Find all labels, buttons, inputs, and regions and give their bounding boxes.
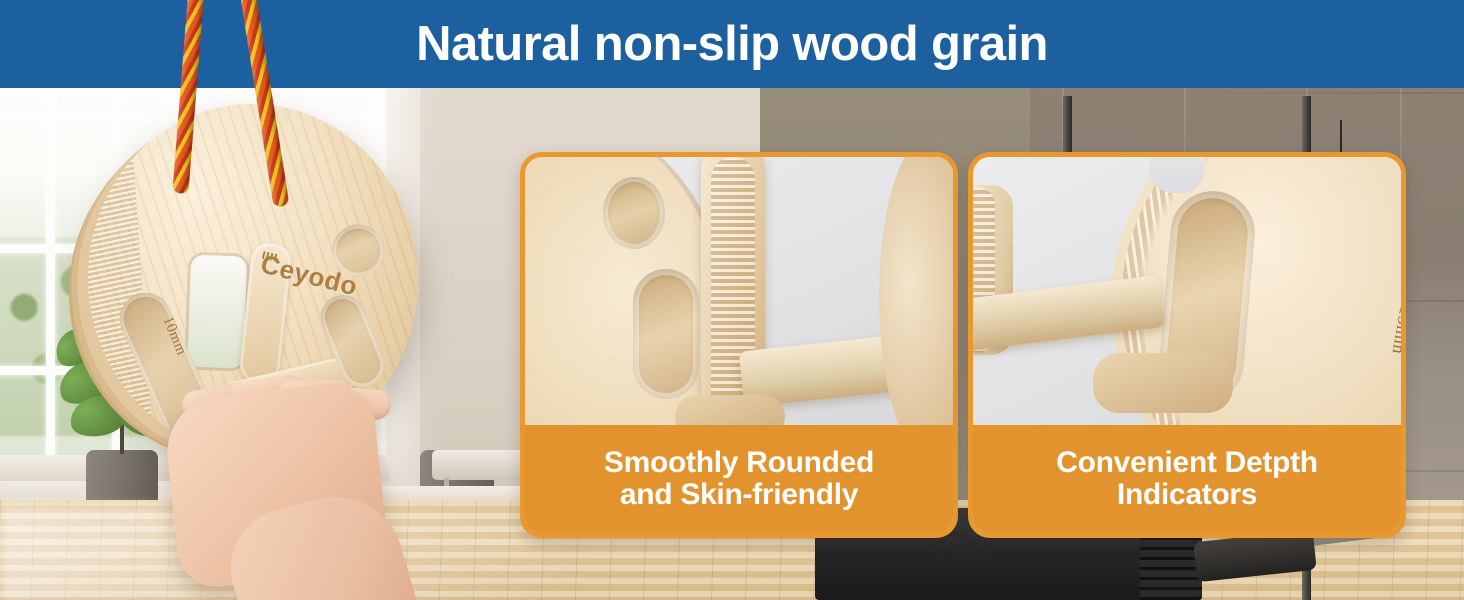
closeup-lower-edge (675, 395, 785, 425)
closeup-round-pocket (603, 177, 665, 249)
feature-card-2-photo: 15mm (973, 157, 1401, 425)
feature-card-depth-indicators[interactable]: 15mm Convenient Detpth Indicators (968, 152, 1406, 538)
header-banner: Natural non-slip wood grain (0, 0, 1464, 88)
closeup-oval-slot (633, 269, 699, 399)
hand-gripping-board (165, 380, 465, 600)
feature-card-smoothly-rounded[interactable]: Smoothly Rounded and Skin-friendly (520, 152, 958, 538)
feature-card-2-caption-line2: Indicators (1117, 478, 1257, 511)
closeup-right-rim (879, 157, 953, 425)
feature-card-1-caption-line2: and Skin-friendly (620, 478, 858, 511)
feature-card-2-caption-line1: Convenient Detpth (1056, 446, 1318, 479)
promo-image-root: MARCYSOM 10mm Ceyodo (0, 0, 1464, 600)
closeup-lower-web (1093, 353, 1233, 413)
feature-card-1-photo (525, 157, 953, 425)
feature-card-2-caption: Convenient Detpth Indicators (973, 425, 1401, 533)
feature-card-1-caption: Smoothly Rounded and Skin-friendly (525, 425, 953, 533)
page-title: Natural non-slip wood grain (0, 0, 1464, 88)
feature-card-1-caption-line1: Smoothly Rounded (604, 446, 874, 479)
